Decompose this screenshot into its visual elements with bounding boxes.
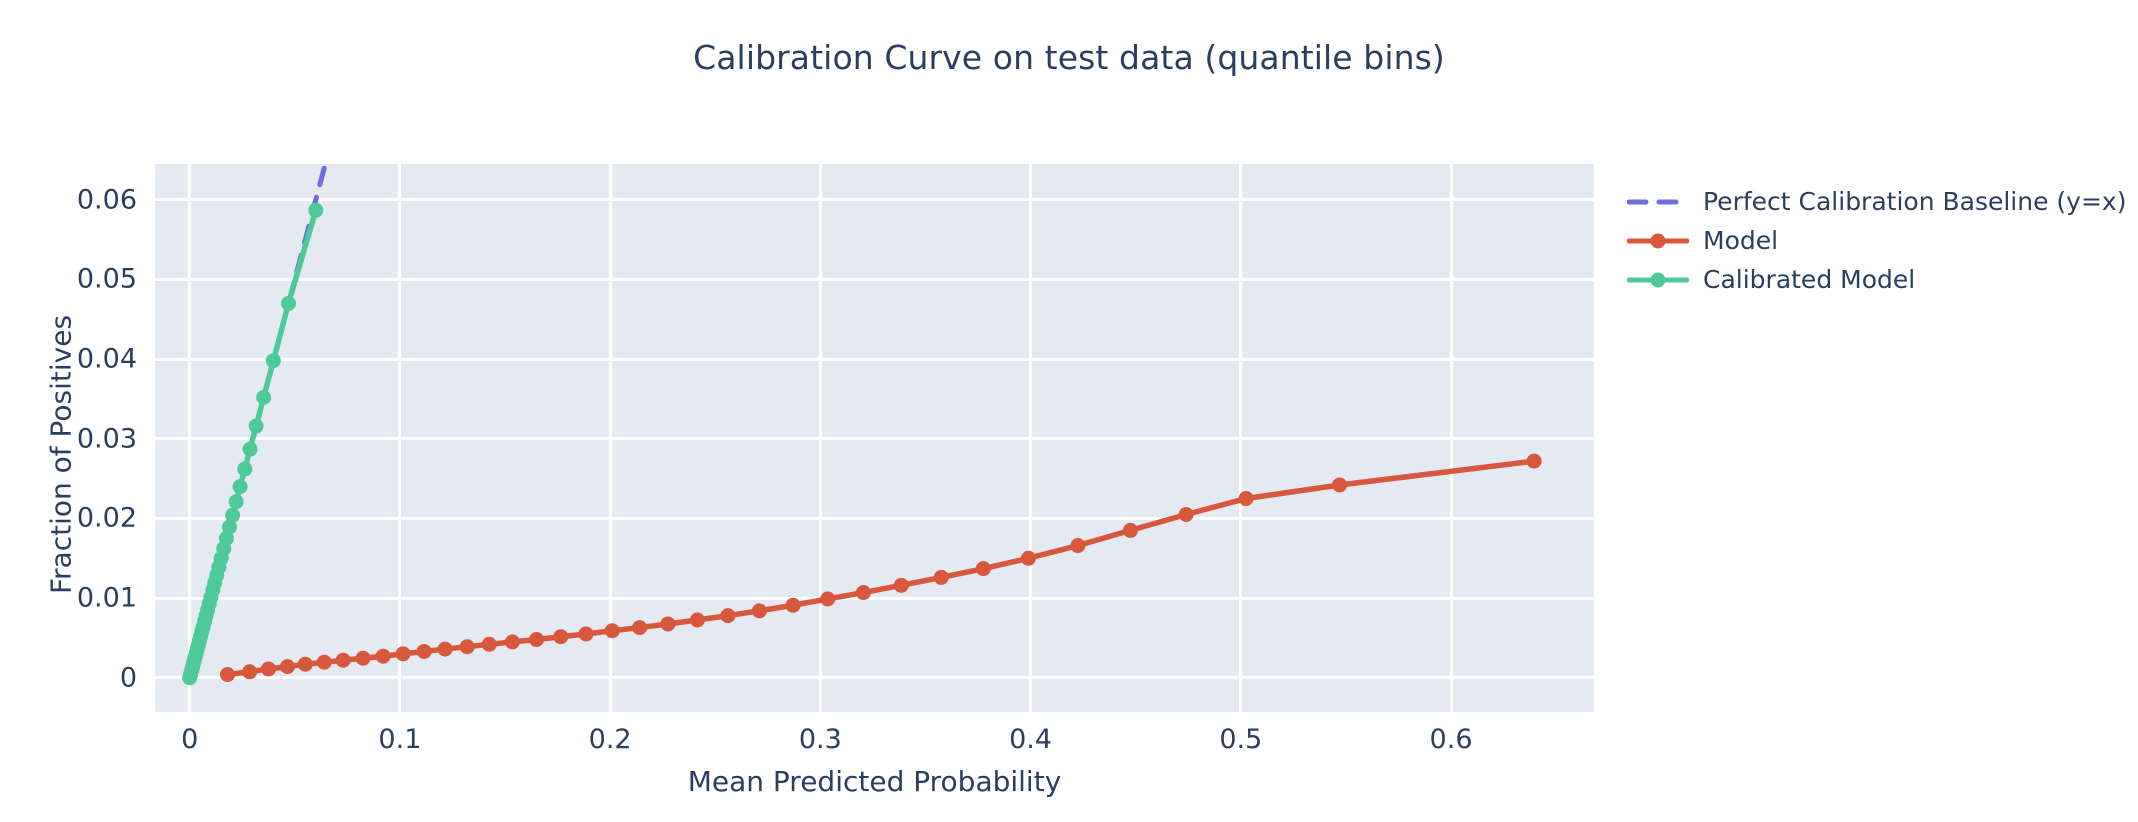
legend-swatch-icon — [1627, 191, 1689, 213]
series-model — [220, 454, 1542, 682]
x-axis-tick-label: 0.6 — [1430, 724, 1473, 755]
data-point-marker — [417, 644, 432, 659]
data-point-marker — [1332, 477, 1347, 492]
y-axis-tick-label: 0.03 — [77, 423, 155, 454]
y-axis-tick-label: 0.01 — [77, 583, 155, 614]
data-point-marker — [482, 637, 497, 652]
data-point-marker — [229, 494, 244, 509]
calibration-chart-figure: Calibration Curve on test data (quantile… — [0, 0, 2138, 822]
data-point-marker — [336, 653, 351, 668]
legend-item-label: Calibrated Model — [1703, 267, 1915, 292]
chart-legend[interactable]: Perfect Calibration Baseline (y=x)ModelC… — [1627, 182, 2127, 299]
data-point-marker — [281, 296, 296, 311]
data-point-marker — [632, 620, 647, 635]
data-point-marker — [266, 353, 281, 368]
data-point-marker — [934, 570, 949, 585]
data-point-marker — [976, 561, 991, 576]
data-point-marker — [317, 655, 332, 670]
data-point-marker — [308, 203, 323, 218]
data-point-marker — [438, 642, 453, 657]
x-axis-tick-label: 0 — [181, 724, 198, 755]
data-point-marker — [242, 664, 257, 679]
data-point-marker — [249, 419, 264, 434]
series-line — [228, 461, 1535, 674]
x-axis-tick-label: 0.1 — [378, 724, 421, 755]
page-title: Calibration Curve on test data (quantile… — [0, 38, 2138, 77]
legend-item-label: Model — [1703, 228, 1778, 253]
x-axis-tick-label: 0.3 — [799, 724, 842, 755]
data-point-marker — [237, 462, 252, 477]
data-point-marker — [505, 634, 520, 649]
x-axis-title: Mean Predicted Probability — [155, 765, 1594, 798]
data-point-marker — [261, 661, 276, 676]
legend-item-calibrated-model[interactable]: Calibrated Model — [1627, 260, 2127, 299]
data-point-marker — [660, 616, 675, 631]
data-point-marker — [1239, 491, 1254, 506]
legend-swatch-icon — [1627, 230, 1689, 252]
y-axis-tick-labels: 00.010.020.030.040.050.06 — [0, 164, 155, 712]
data-point-marker — [280, 659, 295, 674]
data-point-marker — [460, 639, 475, 654]
x-axis-tick-label: 0.4 — [1009, 724, 1052, 755]
data-point-marker — [1123, 523, 1138, 538]
x-axis-tick-label: 0.5 — [1219, 724, 1262, 755]
legend-swatch-icon — [1627, 269, 1689, 291]
y-axis-tick-label: 0.05 — [77, 264, 155, 295]
data-point-marker — [720, 608, 735, 623]
y-axis-tick-label: 0.06 — [77, 184, 155, 215]
data-series-layer — [155, 164, 1594, 712]
plot-area — [155, 164, 1594, 712]
data-point-marker — [820, 591, 835, 606]
data-point-marker — [1021, 551, 1036, 566]
legend-item-label: Perfect Calibration Baseline (y=x) — [1703, 189, 2126, 214]
data-point-marker — [1527, 454, 1542, 469]
data-point-marker — [529, 632, 544, 647]
data-point-marker — [1179, 507, 1194, 522]
data-point-marker — [356, 651, 371, 666]
data-point-marker — [225, 508, 240, 523]
data-point-marker — [553, 629, 568, 644]
data-point-marker — [605, 623, 620, 638]
y-axis-tick-label: 0.02 — [77, 503, 155, 534]
data-point-marker — [894, 578, 909, 593]
data-point-marker — [786, 598, 801, 613]
data-point-marker — [396, 646, 411, 661]
data-point-marker — [690, 613, 705, 628]
legend-item-perfect-calibration-baseline-y-x[interactable]: Perfect Calibration Baseline (y=x) — [1627, 182, 2127, 221]
data-point-marker — [752, 603, 767, 618]
data-point-marker — [243, 442, 258, 457]
legend-item-model[interactable]: Model — [1627, 221, 2127, 260]
data-point-marker — [578, 626, 593, 641]
x-axis-tick-labels: 00.10.20.30.40.50.6 — [155, 712, 1594, 772]
data-point-marker — [233, 479, 248, 494]
data-point-marker — [376, 649, 391, 664]
x-axis-tick-label: 0.2 — [589, 724, 632, 755]
y-axis-title: Fraction of Positives — [45, 181, 78, 729]
data-point-marker — [298, 657, 313, 672]
y-axis-tick-label: 0.04 — [77, 344, 155, 375]
data-point-marker — [256, 390, 271, 405]
y-axis-tick-label: 0 — [120, 662, 155, 693]
data-point-marker — [856, 585, 871, 600]
data-point-marker — [220, 667, 235, 682]
series-calibrated-model — [182, 203, 323, 686]
data-point-marker — [1070, 538, 1085, 553]
